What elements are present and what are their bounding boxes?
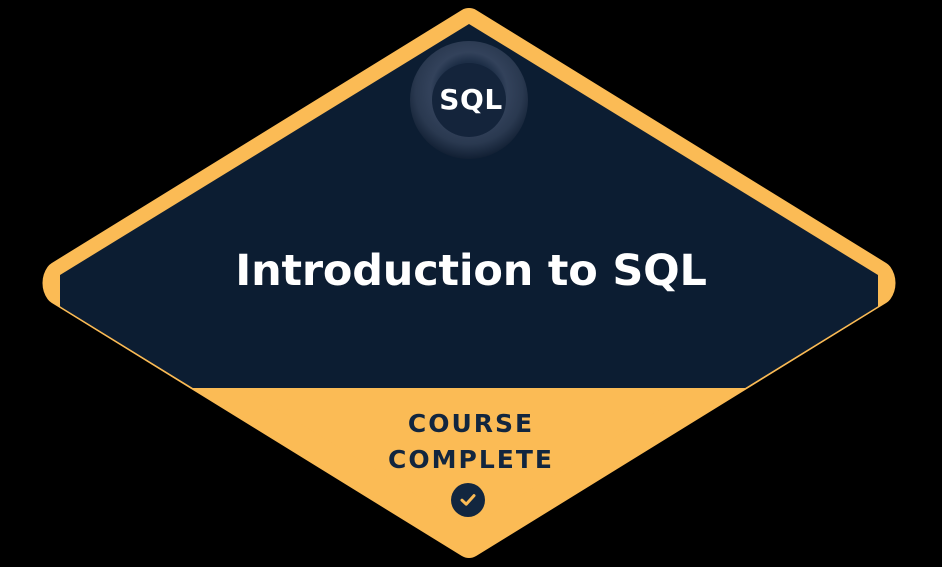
status-block: COURSE COMPLETE [0,406,942,478]
checkmark-glyph [457,489,479,511]
status-line-course: COURSE [0,406,942,442]
check-circle-icon [451,483,485,517]
sql-emblem-label: SQL [0,78,942,122]
status-line-complete: COMPLETE [0,442,942,478]
course-title: Introduction to SQL [0,243,942,299]
course-completion-badge: SQL Introduction to SQL COURSE COMPLETE [0,0,942,567]
